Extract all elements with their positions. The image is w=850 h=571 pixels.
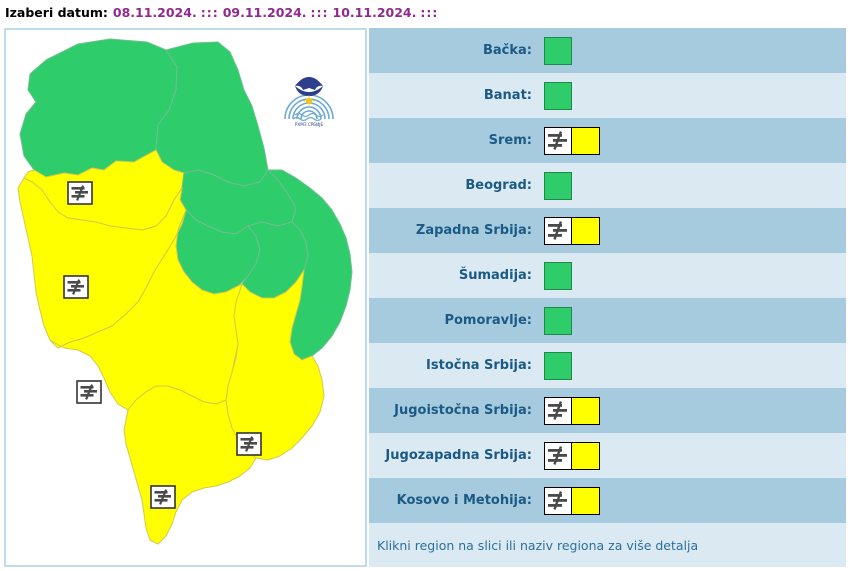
weather-warning-page: Izaberi datum: 08.11.2024. ::: 09.11.202…: [0, 0, 850, 571]
region-row-pomoravlje[interactable]: Pomoravlje:: [369, 298, 846, 343]
region-chips-banat: [544, 82, 572, 110]
region-row-srem[interactable]: Srem:: [369, 118, 846, 163]
region-chips-kosovo-metohija: [544, 487, 600, 515]
region-label-banat[interactable]: Banat:: [377, 88, 532, 103]
severity-chip-yellow[interactable]: [572, 397, 600, 425]
region-label-sumadija[interactable]: Šumadija:: [377, 268, 532, 283]
region-label-kosovo-metohija[interactable]: Kosovo i Metohija:: [377, 493, 532, 508]
date-link-1[interactable]: 08.11.2024.: [113, 5, 197, 20]
region-row-banat[interactable]: Banat:: [369, 73, 846, 118]
region-chips-sumadija: [544, 262, 572, 290]
severity-chip-green[interactable]: [544, 307, 572, 335]
regions-footnote: Klikni region na slici ili naziv regiona…: [369, 523, 846, 567]
severity-chip-yellow[interactable]: [572, 127, 600, 155]
marker-zapadna-srbija[interactable]: [64, 276, 88, 298]
date-separator-3: :::: [420, 5, 438, 20]
severity-chip-yellow[interactable]: [572, 442, 600, 470]
region-chips-srem: [544, 127, 600, 155]
region-label-backa[interactable]: Bačka:: [377, 43, 532, 58]
date-selector-label: Izaberi datum:: [5, 5, 108, 20]
marker-jugoistocna-srbija[interactable]: [237, 433, 261, 455]
severity-chip-green[interactable]: [544, 37, 572, 65]
region-row-beograd[interactable]: Beograd:: [369, 163, 846, 208]
region-chips-istocna-srbija: [544, 352, 572, 380]
severity-chip-yellow[interactable]: [572, 217, 600, 245]
date-separator-2: :::: [311, 5, 329, 20]
date-link-2[interactable]: 09.11.2024.: [223, 5, 307, 20]
fog-icon[interactable]: [544, 217, 572, 245]
logo-caption: РХМЗ СРБИЈЕ: [295, 122, 324, 127]
fog-icon[interactable]: [544, 397, 572, 425]
region-row-zapadna-srbija[interactable]: Zapadna Srbija:: [369, 208, 846, 253]
region-chips-backa: [544, 37, 572, 65]
region-row-jugoistocna-srbija[interactable]: Jugoistočna Srbija:: [369, 388, 846, 433]
regions-footnote-text: Klikni region na slici ili naziv regiona…: [377, 538, 698, 553]
marker-srem[interactable]: [68, 182, 92, 204]
fog-icon[interactable]: [544, 442, 572, 470]
marker-jugozapadna-srbija[interactable]: [77, 381, 101, 403]
severity-chip-green[interactable]: [544, 172, 572, 200]
severity-chip-green[interactable]: [544, 82, 572, 110]
region-row-jugozapadna-srbija[interactable]: Jugozapadna Srbija:: [369, 433, 846, 478]
regions-list: Bačka: Banat: Srem:: [369, 28, 846, 567]
region-label-srem[interactable]: Srem:: [377, 133, 532, 148]
severity-chip-yellow[interactable]: [572, 487, 600, 515]
region-row-backa[interactable]: Bačka:: [369, 28, 846, 73]
severity-chip-green[interactable]: [544, 352, 572, 380]
region-chips-beograd: [544, 172, 572, 200]
region-chips-zapadna-srbija: [544, 217, 600, 245]
date-separator-1: :::: [201, 5, 219, 20]
region-label-beograd[interactable]: Beograd:: [377, 178, 532, 193]
fog-icon[interactable]: [544, 127, 572, 155]
serbia-map-panel[interactable]: РХМЗ СРБИЈЕ: [4, 28, 367, 567]
severity-chip-green[interactable]: [544, 262, 572, 290]
fog-icon[interactable]: [544, 487, 572, 515]
region-label-istocna-srbija[interactable]: Istočna Srbija:: [377, 358, 532, 373]
region-chips-jugozapadna-srbija: [544, 442, 600, 470]
region-row-sumadija[interactable]: Šumadija:: [369, 253, 846, 298]
date-link-3[interactable]: 10.11.2024.: [333, 5, 417, 20]
rhmz-logo-icon: РХМЗ СРБИЈЕ: [281, 71, 337, 129]
region-label-zapadna-srbija[interactable]: Zapadna Srbija:: [377, 223, 532, 238]
region-row-kosovo-metohija[interactable]: Kosovo i Metohija:: [369, 478, 846, 523]
region-chips-pomoravlje: [544, 307, 572, 335]
region-label-jugozapadna-srbija[interactable]: Jugozapadna Srbija:: [377, 448, 532, 463]
marker-kosovo-metohija[interactable]: [151, 486, 175, 508]
region-row-istocna-srbija[interactable]: Istočna Srbija:: [369, 343, 846, 388]
date-selector-bar: Izaberi datum: 08.11.2024. ::: 09.11.202…: [0, 0, 850, 24]
region-label-pomoravlje[interactable]: Pomoravlje:: [377, 313, 532, 328]
region-chips-jugoistocna-srbija: [544, 397, 600, 425]
region-label-jugoistocna-srbija[interactable]: Jugoistočna Srbija:: [377, 403, 532, 418]
